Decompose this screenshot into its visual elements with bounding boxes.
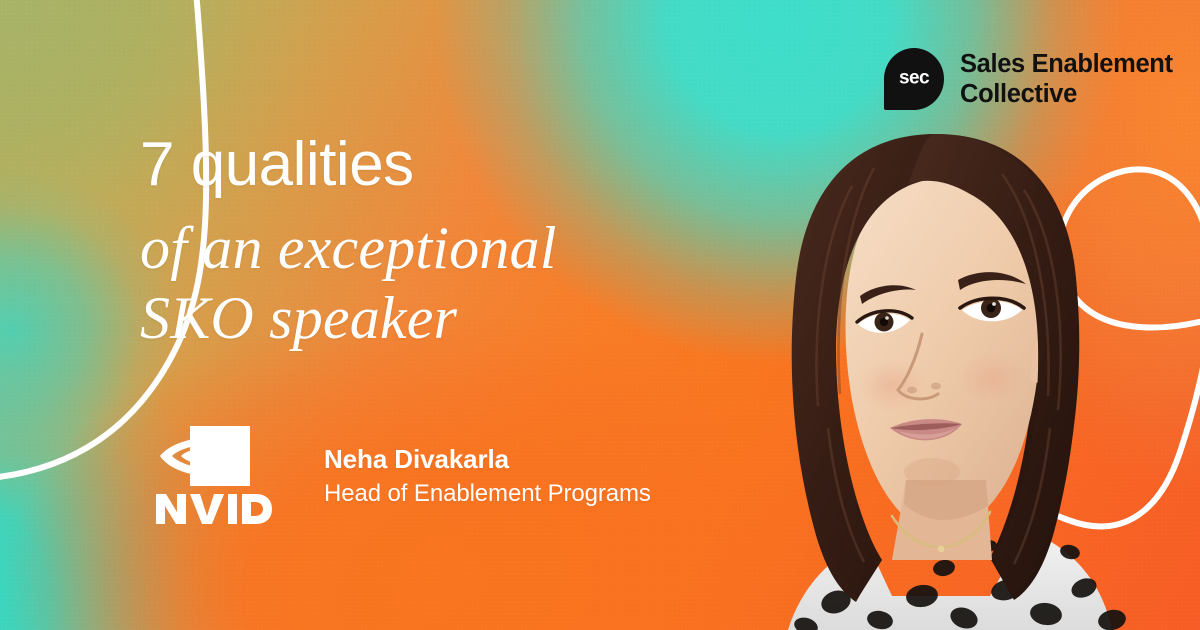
speaker-name: Neha Divakarla	[324, 443, 651, 475]
speaker-info: Neha Divakarla Head of Enablement Progra…	[324, 443, 651, 509]
brand-lockup: sec Sales Enablement Collective	[884, 48, 1173, 110]
speech-bubble-logo-icon: sec	[884, 48, 944, 110]
promo-card: sec Sales Enablement Collective 7 qualit…	[0, 0, 1200, 630]
portrait-photo-of-speaker	[740, 128, 1140, 630]
headline-line-1: 7 qualities	[140, 132, 557, 199]
headline-line-3: SKO speaker	[140, 283, 557, 353]
nvidia-eye-logo-icon	[150, 424, 278, 528]
logo-wordmark: sec	[884, 68, 944, 90]
headline-line-2: of an exceptional	[140, 213, 557, 283]
brand-name: Sales Enablement Collective	[960, 48, 1173, 110]
nvidia-wordmark	[156, 494, 272, 524]
speaker-block: Neha Divakarla Head of Enablement Progra…	[150, 424, 651, 528]
headline: 7 qualities of an exceptional SKO speake…	[140, 132, 557, 353]
speaker-role: Head of Enablement Programs	[324, 478, 651, 509]
